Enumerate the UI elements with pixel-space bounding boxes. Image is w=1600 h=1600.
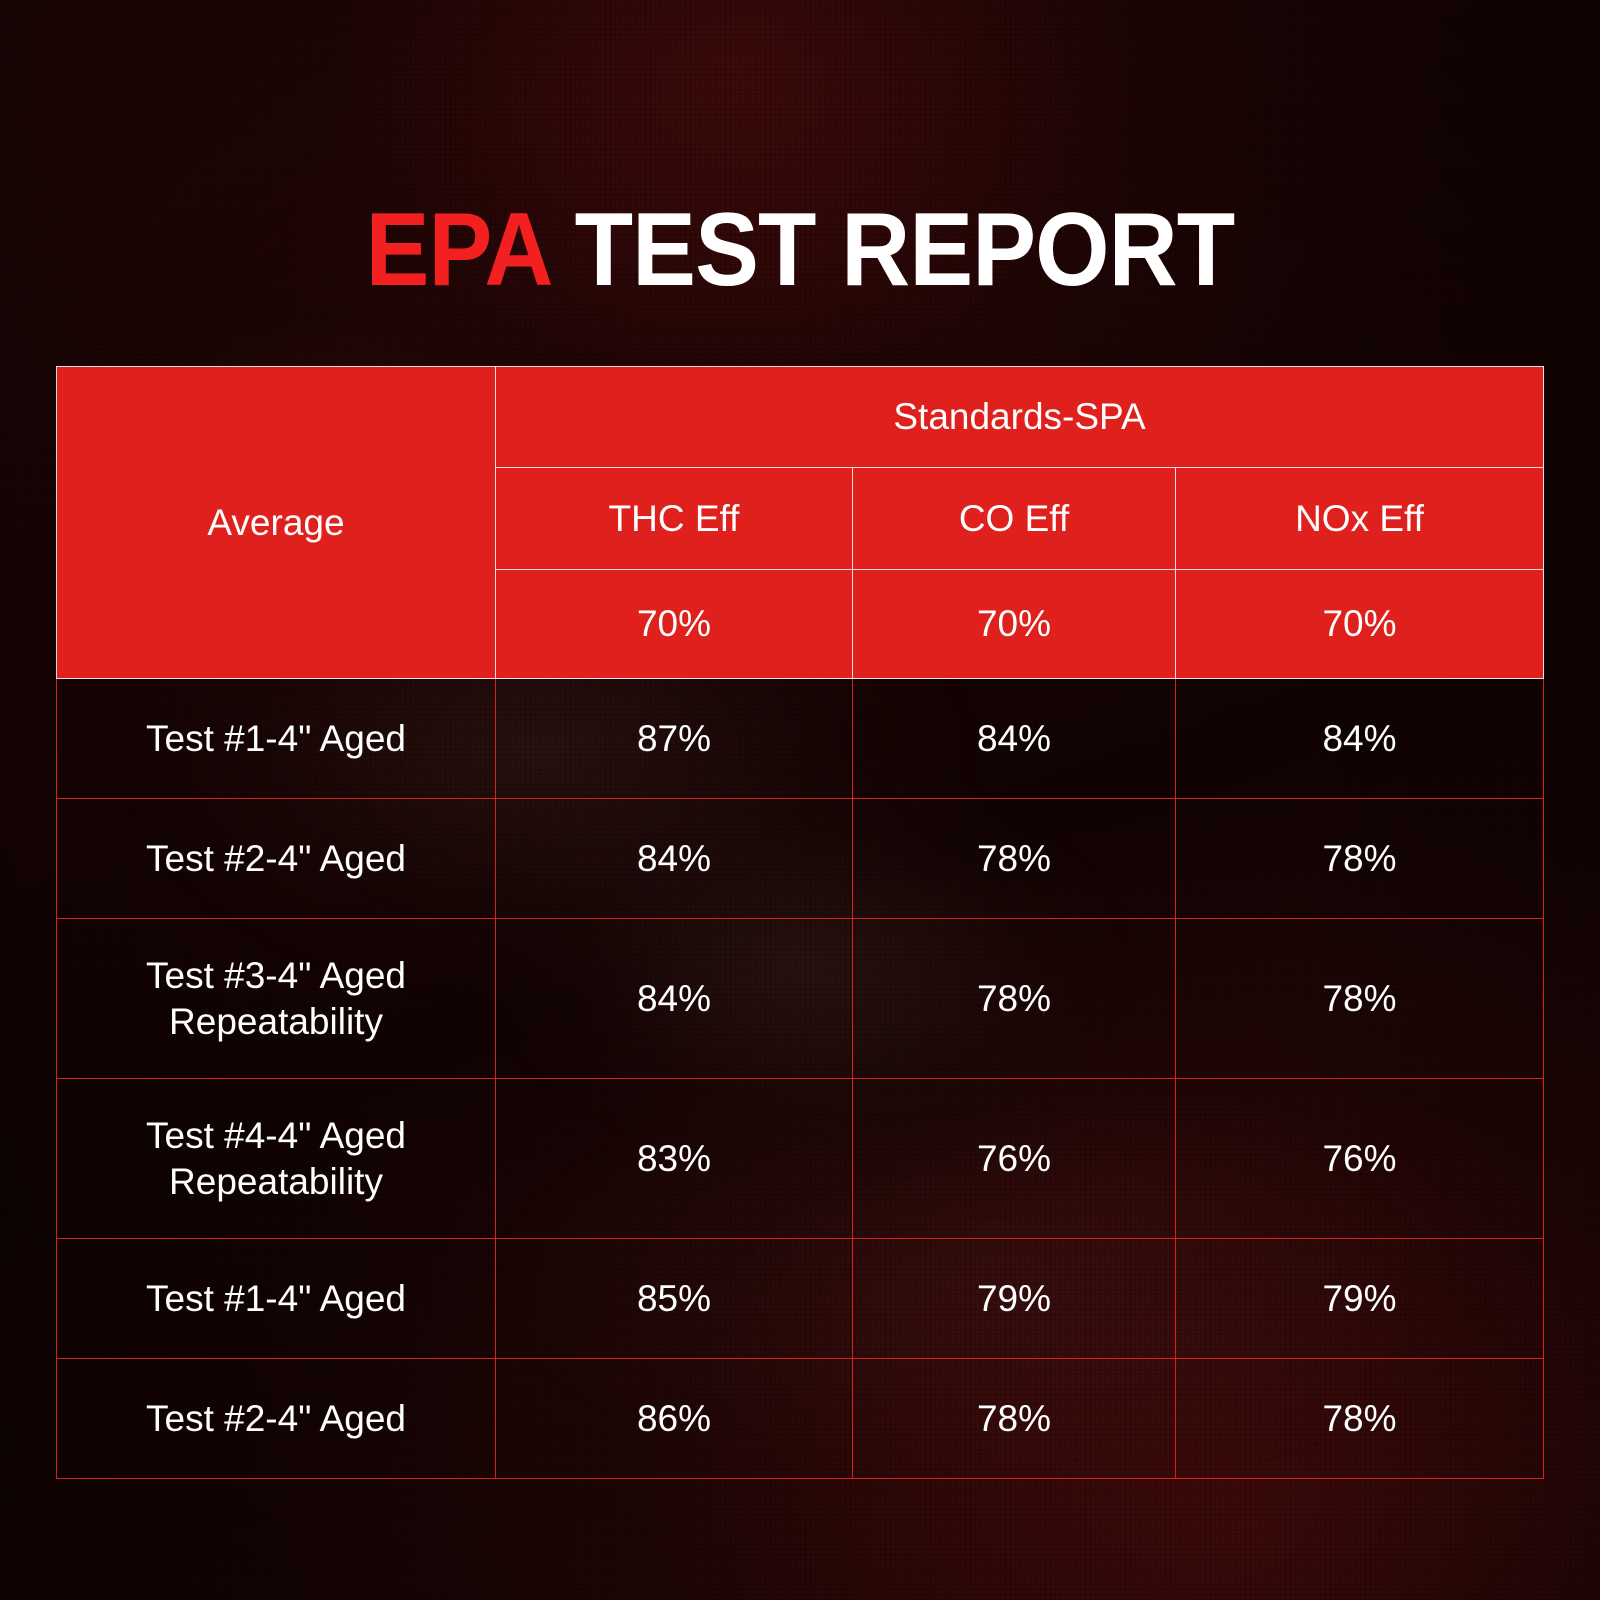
row-label-line1: Test #1-4" Aged [57, 1276, 495, 1321]
row-label-line1: Test #2-4" Aged [57, 836, 495, 881]
cell-co-eff: 78% [853, 919, 1176, 1079]
page-title-accent: EPA [366, 192, 549, 308]
cell-nox-eff: 79% [1176, 1239, 1544, 1359]
cell-nox-eff: 78% [1176, 919, 1544, 1079]
row-label-line2: Repeatability [57, 1159, 495, 1204]
row-label: Test #2-4" Aged [57, 799, 496, 919]
row-label: Test #3-4" Aged Repeatability [57, 919, 496, 1079]
cell-co-eff: 76% [853, 1079, 1176, 1239]
header-column-co-eff: CO Eff [853, 468, 1176, 570]
cell-thc-eff: 87% [496, 679, 853, 799]
table-row: Test #4-4" Aged Repeatability 83% 76% 76… [57, 1079, 1544, 1239]
cell-co-eff: 78% [853, 799, 1176, 919]
row-label: Test #4-4" Aged Repeatability [57, 1079, 496, 1239]
header-corner-average: Average [57, 367, 496, 679]
row-label-line1: Test #2-4" Aged [57, 1396, 495, 1441]
cell-nox-eff: 84% [1176, 679, 1544, 799]
cell-nox-eff: 76% [1176, 1079, 1544, 1239]
page-title: EPA TEST REPORT [64, 198, 1536, 302]
cell-co-eff: 78% [853, 1359, 1176, 1479]
header-column-nox-eff: NOx Eff [1176, 468, 1544, 570]
cell-thc-eff: 85% [496, 1239, 853, 1359]
row-label: Test #2-4" Aged [57, 1359, 496, 1479]
cell-co-eff: 79% [853, 1239, 1176, 1359]
header-standard-thc-eff: 70% [496, 570, 853, 679]
cell-thc-eff: 83% [496, 1079, 853, 1239]
table-row: Test #1-4" Aged 85% 79% 79% [57, 1239, 1544, 1359]
header-column-thc-eff: THC Eff [496, 468, 853, 570]
header-standard-nox-eff: 70% [1176, 570, 1544, 679]
table-row: Test #2-4" Aged 84% 78% 78% [57, 799, 1544, 919]
cell-co-eff: 84% [853, 679, 1176, 799]
cell-thc-eff: 86% [496, 1359, 853, 1479]
header-standard-co-eff: 70% [853, 570, 1176, 679]
page-title-rest: TEST REPORT [549, 192, 1234, 308]
row-label: Test #1-4" Aged [57, 679, 496, 799]
cell-nox-eff: 78% [1176, 799, 1544, 919]
row-label: Test #1-4" Aged [57, 1239, 496, 1359]
table-row: Test #1-4" Aged 87% 84% 84% [57, 679, 1544, 799]
cell-nox-eff: 78% [1176, 1359, 1544, 1479]
row-label-line1: Test #4-4" Aged [57, 1113, 495, 1158]
row-label-line1: Test #3-4" Aged [57, 953, 495, 998]
table-row: Test #3-4" Aged Repeatability 84% 78% 78… [57, 919, 1544, 1079]
cell-thc-eff: 84% [496, 919, 853, 1079]
table-header-row-group: Average Standards-SPA [57, 367, 1544, 468]
table-row: Test #2-4" Aged 86% 78% 78% [57, 1359, 1544, 1479]
epa-test-report-table: Average Standards-SPA THC Eff CO Eff NOx… [56, 366, 1544, 1479]
row-label-line2: Repeatability [57, 999, 495, 1044]
row-label-line1: Test #1-4" Aged [57, 716, 495, 761]
cell-thc-eff: 84% [496, 799, 853, 919]
header-group-standards-spa: Standards-SPA [496, 367, 1544, 468]
